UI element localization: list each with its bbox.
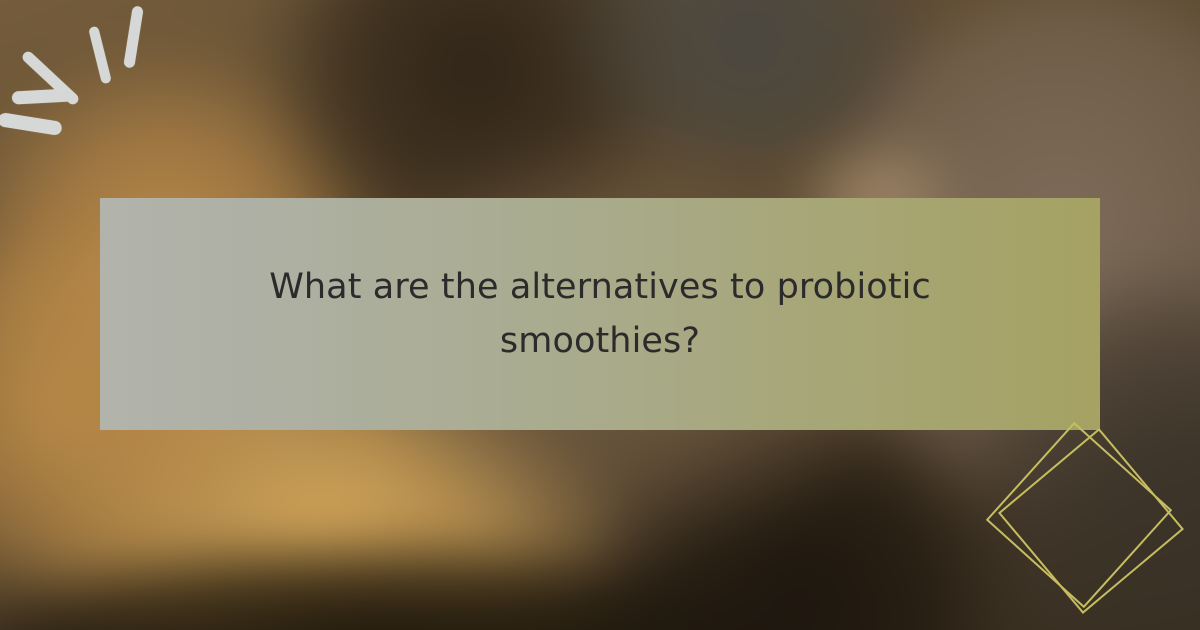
headline-card: What are the alternatives to probiotic s… [100, 198, 1100, 430]
social-card-canvas: What are the alternatives to probiotic s… [0, 0, 1200, 630]
page-title: What are the alternatives to probiotic s… [250, 260, 950, 369]
